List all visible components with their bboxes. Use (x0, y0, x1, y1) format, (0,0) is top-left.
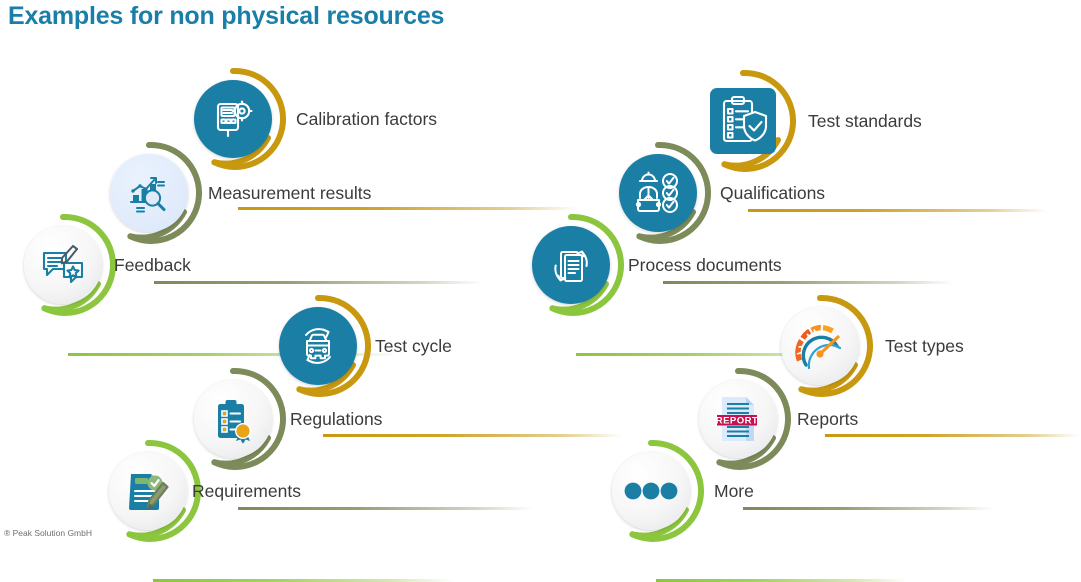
slide-canvas: Examples for non physical resources (0, 0, 1081, 547)
ellipsis-dots-icon (612, 452, 690, 530)
calibration-device-icon (194, 80, 272, 158)
item-label: Calibration factors (296, 111, 437, 129)
item-label: Requirements (192, 483, 301, 501)
tail-line-olive (238, 507, 533, 510)
chart-magnifier-icon (110, 154, 188, 232)
tail-line-gold (238, 207, 578, 210)
item-label: Feedback (114, 257, 191, 275)
item-label: Test types (885, 338, 964, 356)
page-title: Examples for non physical resources (8, 2, 444, 31)
report-document-icon: REPORT (699, 380, 777, 458)
tail-line-olive (743, 507, 993, 510)
tail-line-olive (154, 281, 484, 284)
tail-line-gold (323, 434, 623, 437)
footer-copyright: ® Peak Solution GmbH (4, 528, 92, 538)
item-label: Qualifications (720, 185, 825, 203)
clipboard-shield-icon (704, 82, 782, 160)
document-pencil-check-icon (109, 452, 187, 530)
item-label: Reports (797, 411, 858, 429)
clipboard-seal-icon (194, 380, 272, 458)
item-label: More (714, 483, 754, 501)
item-label: Process documents (628, 257, 782, 275)
speedometer-icon (781, 307, 859, 385)
worker-checklist-icon (619, 154, 697, 232)
svg-text:REPORT: REPORT (716, 415, 758, 426)
tail-line-gold (748, 209, 1048, 212)
car-cycle-icon (279, 307, 357, 385)
item-label: Regulations (290, 411, 382, 429)
item-label: Measurement results (208, 185, 371, 203)
feedback-speech-bubbles-icon (24, 226, 102, 304)
item-label: Test cycle (375, 338, 452, 356)
item-label: Test standards (808, 113, 922, 131)
document-cycle-icon (532, 226, 610, 304)
tail-line-gold (825, 434, 1080, 437)
tail-line-olive (663, 281, 953, 284)
